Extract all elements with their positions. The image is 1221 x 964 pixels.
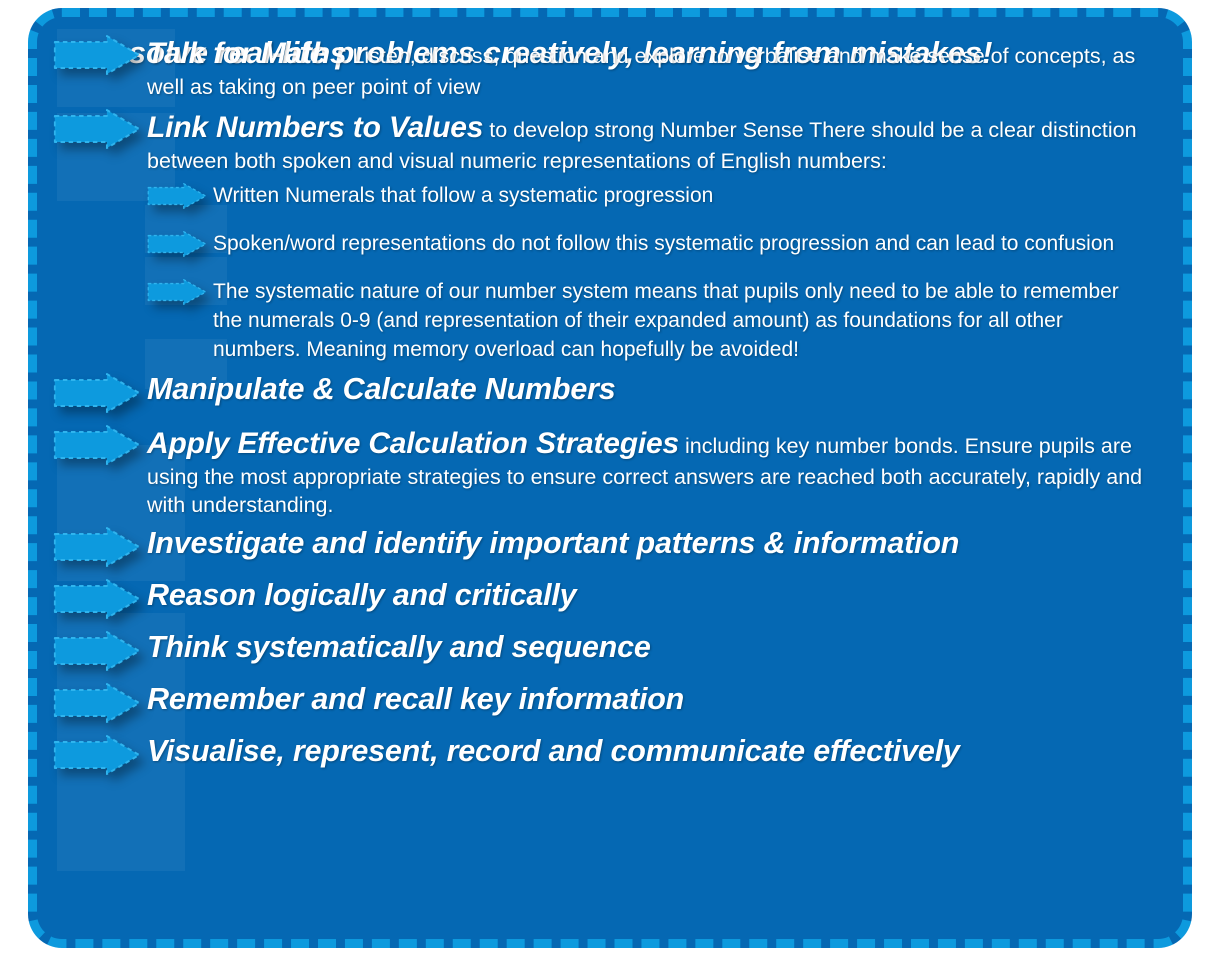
principle-heading: Manipulate & Calculate Numbers bbox=[147, 372, 616, 406]
principle-heading: Reason logically and critically bbox=[147, 578, 576, 612]
arrow-right-icon bbox=[53, 631, 141, 671]
principle-text: Investigate and identify important patte… bbox=[147, 519, 1143, 561]
principle-text: Apply Effective Calculation Strategies i… bbox=[147, 417, 1143, 520]
arrow-right-icon bbox=[53, 425, 141, 465]
arrow-bullet bbox=[51, 101, 147, 153]
arrow-right-icon bbox=[53, 683, 141, 723]
principle-row: The systematic nature of our number syst… bbox=[37, 272, 1169, 365]
principle-row: Reason logically and critically bbox=[37, 571, 1169, 623]
principle-text: Link Numbers to Values to develop strong… bbox=[147, 101, 1143, 175]
principle-description: Written Numerals that follow a systemati… bbox=[213, 184, 713, 207]
principle-row: Visualise, represent, record and communi… bbox=[37, 727, 1169, 779]
arrow-right-icon bbox=[53, 109, 141, 149]
principle-heading: Investigate and identify important patte… bbox=[147, 526, 959, 560]
principle-text: Reason logically and critically bbox=[147, 571, 1143, 613]
arrow-right-icon bbox=[53, 579, 141, 619]
principle-row: Think systematically and sequence bbox=[37, 623, 1169, 675]
arrow-right-icon bbox=[53, 527, 141, 567]
principle-row: Spoken/word representations do not follo… bbox=[37, 224, 1169, 272]
arrow-right-icon bbox=[147, 231, 207, 257]
principle-heading: Apply Effective Calculation Strategies bbox=[147, 427, 679, 460]
arrow-bullet bbox=[145, 176, 213, 212]
principle-row: Talk for Maths Listen, discuss, question… bbox=[37, 27, 1169, 101]
arrow-bullet bbox=[145, 224, 213, 260]
principle-row: Apply Effective Calculation Strategies i… bbox=[37, 417, 1169, 520]
principle-row: Link Numbers to Values to develop strong… bbox=[37, 101, 1169, 175]
arrow-bullet bbox=[145, 272, 213, 308]
principle-text: Manipulate & Calculate Numbers bbox=[147, 365, 1143, 407]
arrow-right-icon bbox=[147, 279, 207, 305]
arrow-bullet bbox=[51, 365, 147, 417]
arrow-right-icon bbox=[53, 373, 141, 413]
principle-heading: Visualise, represent, record and communi… bbox=[147, 734, 960, 768]
principle-heading: Talk for Maths bbox=[147, 37, 346, 70]
principle-row: Manipulate & Calculate Numbers bbox=[37, 365, 1169, 417]
principles-list: Talk for Maths Listen, discuss, question… bbox=[37, 17, 1183, 939]
arrow-right-icon bbox=[147, 183, 207, 209]
principle-row: Investigate and identify important patte… bbox=[37, 519, 1169, 571]
principle-description: Spoken/word representations do not follo… bbox=[213, 232, 1114, 255]
arrow-bullet bbox=[51, 675, 147, 727]
principle-description: The systematic nature of our number syst… bbox=[213, 280, 1119, 361]
principle-text: Written Numerals that follow a systemati… bbox=[213, 176, 1143, 211]
principle-text: The systematic nature of our number syst… bbox=[213, 272, 1143, 365]
maths-principles-poster: Talk for Maths Listen, discuss, question… bbox=[28, 8, 1192, 948]
arrow-bullet bbox=[51, 519, 147, 571]
principle-heading: Remember and recall key information bbox=[147, 682, 684, 716]
principle-text: Remember and recall key information bbox=[147, 675, 1143, 717]
principle-text: Talk for Maths Listen, discuss, question… bbox=[147, 27, 1143, 101]
principle-row: Written Numerals that follow a systemati… bbox=[37, 176, 1169, 224]
arrow-bullet bbox=[51, 27, 147, 79]
arrow-bullet bbox=[51, 417, 147, 469]
arrow-right-icon bbox=[53, 35, 141, 75]
principle-text: Visualise, represent, record and communi… bbox=[147, 727, 1143, 769]
arrow-right-icon bbox=[53, 735, 141, 775]
principle-text: Think systematically and sequence bbox=[147, 623, 1143, 665]
arrow-bullet bbox=[51, 727, 147, 779]
principle-heading: Link Numbers to Values bbox=[147, 111, 483, 144]
principle-text: Spoken/word representations do not follo… bbox=[213, 224, 1143, 259]
arrow-bullet bbox=[51, 571, 147, 623]
principle-row: Remember and recall key information bbox=[37, 675, 1169, 727]
principle-heading: Think systematically and sequence bbox=[147, 630, 651, 664]
arrow-bullet bbox=[51, 623, 147, 675]
